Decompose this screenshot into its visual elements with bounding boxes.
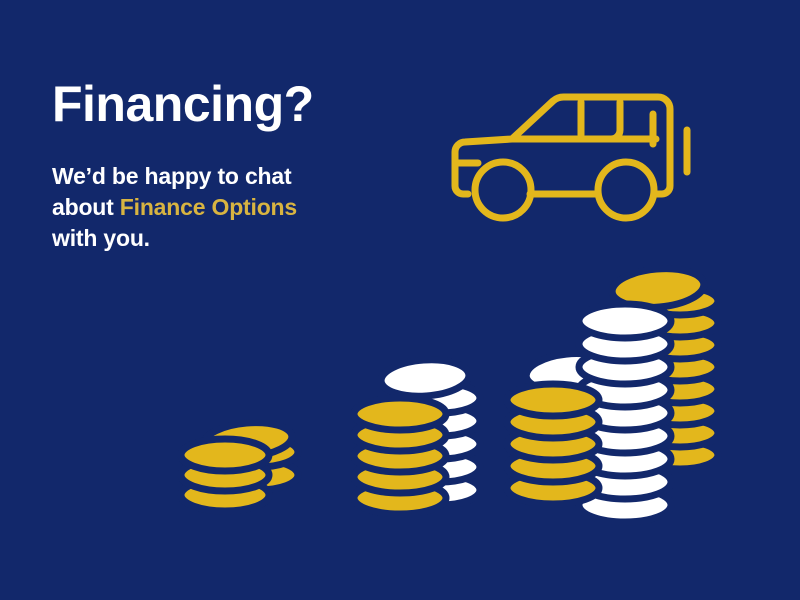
car-icon (450, 82, 715, 227)
financing-promo-banner: Financing? We’d be happy to chat about F… (0, 0, 800, 600)
coin-stacks-icon (0, 260, 800, 600)
coin-stack-large (507, 265, 718, 522)
text-block: Financing? We’d be happy to chat about F… (52, 78, 392, 254)
subcopy-line-3: with you. (52, 225, 150, 251)
subcopy: We’d be happy to chat about Finance Opti… (52, 161, 392, 254)
coin-stack-small (181, 419, 298, 511)
subcopy-line-1: We’d be happy to chat (52, 163, 291, 189)
page-title: Financing? (52, 78, 392, 131)
subcopy-line-2-prefix: about (52, 194, 120, 220)
coin-stack-medium (354, 357, 480, 514)
finance-options-highlight: Finance Options (120, 194, 297, 220)
